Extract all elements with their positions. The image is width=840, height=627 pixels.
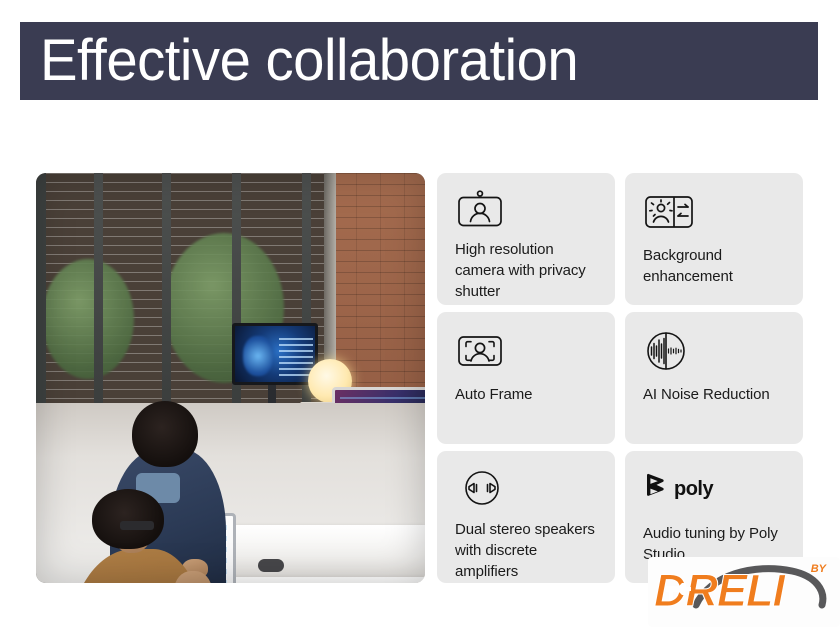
feature-card-label: AI Noise Reduction: [643, 384, 787, 405]
poly-logo-icon: poly: [643, 467, 787, 513]
feature-card-ai-noise-reduction[interactable]: AI Noise Reduction: [625, 312, 803, 444]
feature-card-auto-frame[interactable]: Auto Frame: [437, 312, 615, 444]
ai-noise-reduction-icon: [643, 328, 787, 374]
feature-card-label: Auto Frame: [455, 384, 599, 405]
feature-cards-grid: High resolution camera with privacy shut…: [437, 173, 818, 583]
dreli-watermark: DRELI BY: [648, 557, 840, 627]
feature-card-label: Dual stereo speakers with discrete ampli…: [455, 519, 599, 582]
feature-card-background-enhancement[interactable]: Background enhancement: [625, 173, 803, 305]
dual-stereo-speakers-icon: [455, 467, 599, 509]
page-title: Effective collaboration: [40, 32, 578, 90]
collaboration-photo: [36, 173, 425, 583]
feature-card-dual-stereo-speakers[interactable]: Dual stereo speakers with discrete ampli…: [437, 451, 615, 583]
feature-card-high-resolution-camera[interactable]: High resolution camera with privacy shut…: [437, 173, 615, 305]
feature-card-label: High resolution camera with privacy shut…: [455, 239, 599, 302]
auto-frame-icon: [455, 328, 599, 374]
drill-icon: [664, 579, 694, 605]
svg-text:poly: poly: [674, 478, 714, 500]
camera-privacy-shutter-icon: [455, 189, 599, 229]
feature-card-label: Background enhancement: [643, 245, 787, 287]
background-enhancement-icon: [643, 189, 787, 235]
page-header-bar: Effective collaboration: [20, 22, 818, 100]
watermark-by-text: BY: [811, 563, 826, 575]
